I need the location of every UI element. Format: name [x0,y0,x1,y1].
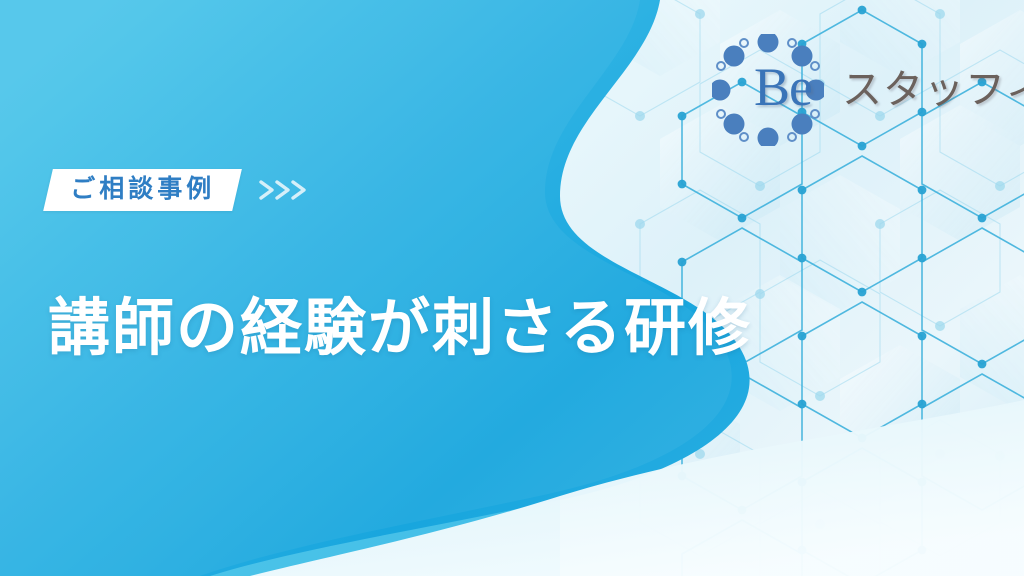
logo-wordmark-suffix: スタッフィング [842,70,1024,110]
status-badge: ご相談事例 [43,169,242,211]
page-title: 講師の経験が刺さる研修 [48,294,752,363]
brand-logo: Be スタッフィング [712,34,1002,146]
badge-row: ご相談事例 [48,169,315,211]
logo-wordmark: Be [754,60,812,114]
slide-canvas: Be スタッフィング ご相談事例 講師の経験が刺さる研修 [0,0,1024,576]
badge-label: ご相談事例 [70,176,215,202]
chevron-right-triple-icon [257,175,315,205]
